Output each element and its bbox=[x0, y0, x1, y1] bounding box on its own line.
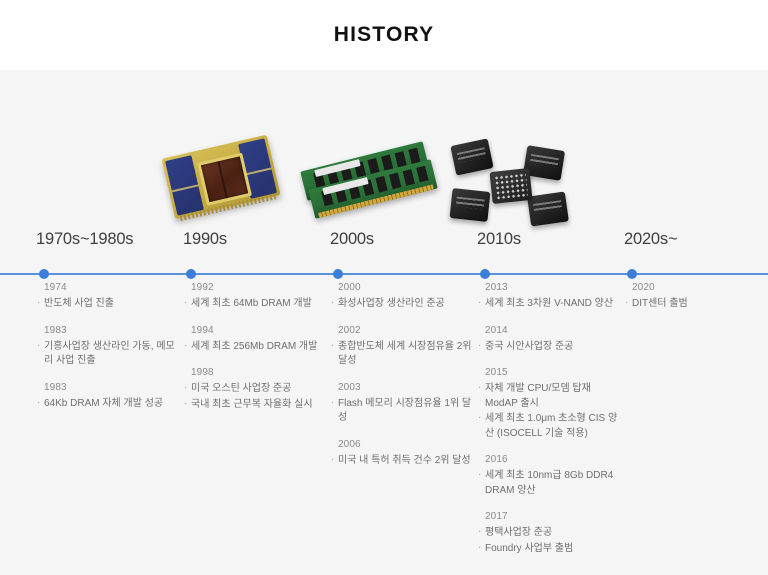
page-title: HISTORY bbox=[334, 23, 435, 47]
event-item: Flash 메모리 시장점유율 1위 달성 bbox=[331, 397, 474, 426]
bga-chip-package-image bbox=[447, 136, 587, 228]
event-group: 2002 종합반도체 세계 시장점유율 2위 달성 bbox=[331, 325, 474, 369]
event-group: 2016 세계 최초 10nm급 8Gb DDR4 DRAM 양산 bbox=[478, 454, 621, 498]
event-year: 2000 bbox=[331, 282, 474, 293]
event-item: DIT센터 출범 bbox=[625, 297, 768, 312]
event-group: 1974 반도체 사업 진출 bbox=[37, 282, 180, 312]
event-group: 2006 미국 내 특허 취득 건수 2위 달성 bbox=[331, 439, 474, 469]
timeline-axis: 1970s~1980s 1990s 2000s 2010s 2020s~ bbox=[0, 230, 768, 282]
page-header: HISTORY bbox=[0, 0, 768, 70]
event-group: 2003 Flash 메모리 시장점유율 1위 달성 bbox=[331, 382, 474, 426]
timeline-event-columns: 1974 반도체 사업 진출 1983 기흥사업장 생산라인 가동, 메모리 사… bbox=[0, 282, 768, 575]
event-year: 2002 bbox=[331, 325, 474, 336]
event-year: 1974 bbox=[37, 282, 180, 293]
product-image-row bbox=[0, 70, 768, 230]
timeline-node-1990s[interactable] bbox=[186, 269, 196, 279]
event-item: 자체 개발 CPU/모뎀 탑재 ModAP 출시 bbox=[478, 382, 621, 411]
event-group: 1983 64Kb DRAM 자체 개발 성공 bbox=[37, 382, 180, 412]
event-column-2020s: 2020 DIT센터 출범 bbox=[625, 282, 768, 325]
event-item: 64Kb DRAM 자체 개발 성공 bbox=[37, 397, 180, 412]
event-item: 세계 최초 10nm급 8Gb DDR4 DRAM 양산 bbox=[478, 469, 621, 498]
event-item: 화성사업장 생산라인 준공 bbox=[331, 297, 474, 312]
event-group: 2017 평택사업장 준공 Foundry 사업부 출범 bbox=[478, 511, 621, 556]
decade-label-2010s: 2010s bbox=[477, 230, 521, 249]
decade-label-1970s-1980s: 1970s~1980s bbox=[36, 230, 133, 249]
event-item: 세계 최초 256Mb DRAM 개발 bbox=[184, 340, 327, 355]
event-item: 국내 최초 근무복 자율화 실시 bbox=[184, 398, 327, 413]
product-image-1990s bbox=[147, 132, 294, 228]
event-item: 평택사업장 준공 bbox=[478, 526, 621, 541]
event-group: 1992 세계 최초 64Mb DRAM 개발 bbox=[184, 282, 327, 312]
event-column-2000s: 2000 화성사업장 생산라인 준공 2002 종합반도체 세계 시장점유율 2… bbox=[331, 282, 474, 481]
event-year: 2016 bbox=[478, 454, 621, 465]
event-item: 종합반도체 세계 시장점유율 2위 달성 bbox=[331, 340, 474, 369]
event-column-1970s-1980s: 1974 반도체 사업 진출 1983 기흥사업장 생산라인 가동, 메모리 사… bbox=[37, 282, 180, 424]
event-year: 1992 bbox=[184, 282, 327, 293]
timeline-node-1970s-1980s[interactable] bbox=[39, 269, 49, 279]
event-group: 2020 DIT센터 출범 bbox=[625, 282, 768, 312]
event-group: 2014 중국 시안사업장 준공 bbox=[478, 325, 621, 355]
event-group: 1998 미국 오스틴 사업장 준공 국내 최초 근무복 자율화 실시 bbox=[184, 367, 327, 412]
event-item: 기흥사업장 생산라인 가동, 메모리 사업 진출 bbox=[37, 340, 180, 369]
timeline-node-2000s[interactable] bbox=[333, 269, 343, 279]
event-item: 미국 오스틴 사업장 준공 bbox=[184, 382, 327, 397]
product-image-2000s bbox=[294, 132, 441, 228]
event-group: 2013 세계 최초 3차원 V-NAND 양산 bbox=[478, 282, 621, 312]
timeline-node-2010s[interactable] bbox=[480, 269, 490, 279]
timeline-node-2020s[interactable] bbox=[627, 269, 637, 279]
event-item: Foundry 사업부 출범 bbox=[478, 542, 621, 557]
event-group: 1983 기흥사업장 생산라인 가동, 메모리 사업 진출 bbox=[37, 325, 180, 369]
event-year: 1994 bbox=[184, 325, 327, 336]
decade-label-2000s: 2000s bbox=[330, 230, 374, 249]
event-item: 세계 최초 3차원 V-NAND 양산 bbox=[478, 297, 621, 312]
event-year: 1983 bbox=[37, 325, 180, 336]
timeline-line bbox=[0, 273, 768, 275]
event-year: 2006 bbox=[331, 439, 474, 450]
event-year: 1998 bbox=[184, 367, 327, 378]
event-year: 1983 bbox=[37, 382, 180, 393]
event-column-1990s: 1992 세계 최초 64Mb DRAM 개발 1994 세계 최초 256Mb… bbox=[184, 282, 327, 425]
product-image-2010s bbox=[441, 132, 588, 228]
event-year: 2015 bbox=[478, 367, 621, 378]
event-item: 반도체 사업 진출 bbox=[37, 297, 180, 312]
event-year: 2013 bbox=[478, 282, 621, 293]
decade-label-1990s: 1990s bbox=[183, 230, 227, 249]
history-panel: 1970s~1980s 1990s 2000s 2010s 2020s~ 197… bbox=[0, 70, 768, 575]
event-item: 중국 시안사업장 준공 bbox=[478, 340, 621, 355]
event-item: 세계 최초 1.0μm 초소형 CIS 양산 (ISOCELL 기술 적용) bbox=[478, 412, 621, 441]
event-item: 미국 내 특허 취득 건수 2위 달성 bbox=[331, 454, 474, 469]
event-year: 2014 bbox=[478, 325, 621, 336]
event-group: 1994 세계 최초 256Mb DRAM 개발 bbox=[184, 325, 327, 355]
event-item: 세계 최초 64Mb DRAM 개발 bbox=[184, 297, 327, 312]
event-year: 2017 bbox=[478, 511, 621, 522]
dram-memory-module-image bbox=[300, 142, 440, 220]
ceramic-dram-chip-image bbox=[161, 135, 280, 220]
event-group: 2015 자체 개발 CPU/모뎀 탑재 ModAP 출시 세계 최초 1.0μ… bbox=[478, 367, 621, 441]
decade-label-2020s: 2020s~ bbox=[624, 230, 677, 249]
event-group: 2000 화성사업장 생산라인 준공 bbox=[331, 282, 474, 312]
event-year: 2020 bbox=[625, 282, 768, 293]
event-column-2010s: 2013 세계 최초 3차원 V-NAND 양산 2014 중국 시안사업장 준… bbox=[478, 282, 621, 569]
event-year: 2003 bbox=[331, 382, 474, 393]
